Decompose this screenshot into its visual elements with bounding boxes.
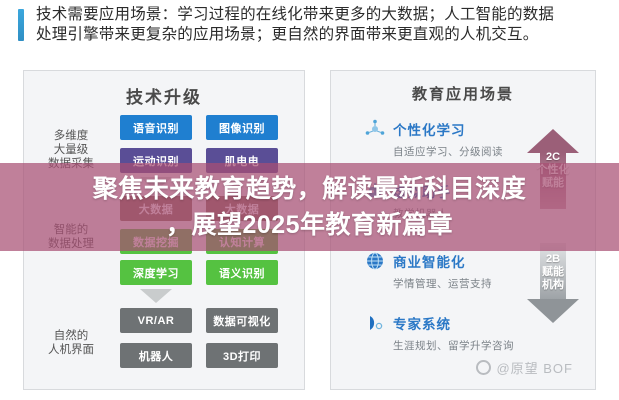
scenario-item-personalized: 个性化学习 自适应学习、分级阅读	[365, 119, 503, 159]
scenario-label-personalized: 个性化学习	[393, 123, 466, 138]
scenario-label-expert: 专家系统	[393, 317, 451, 332]
network-node-icon	[365, 119, 385, 139]
watermark: @原望 BOF	[476, 358, 573, 377]
box-dataviz: 数据可视化	[206, 308, 278, 333]
scenario-title-expert: 专家系统	[365, 313, 514, 333]
scenario-sub-personalized: 自适应学习、分级阅读	[393, 144, 503, 159]
box-image-recognition: 图像识别	[206, 115, 278, 140]
scenario-title-bi: 商业智能化	[365, 251, 492, 271]
scenario-sub-expert: 生涯规划、留学升学咨询	[393, 338, 514, 353]
header-quote-bar: 技术需要应用场景：学习过程的在线化带来更多的大数据；人工智能的数据 处理引擎带来…	[0, 0, 619, 62]
box-vr-ar: VR/AR	[120, 308, 192, 333]
box-robot: 机器人	[120, 343, 192, 368]
overlay-title-line-1: 聚焦未来教育趋势，解读最新科目深度	[93, 171, 527, 207]
left-panel-title: 技术升级	[24, 83, 304, 108]
scenario-title-personalized: 个性化学习	[365, 119, 503, 139]
row-label-interface: 自然的 人机界面	[32, 329, 110, 357]
weibo-icon	[476, 360, 491, 375]
accent-bar-icon	[18, 9, 24, 41]
scenario-label-bi: 商业智能化	[393, 255, 466, 270]
slide-image: 技术需要应用场景：学习过程的在线化带来更多的大数据；人工智能的数据 处理引擎带来…	[0, 0, 619, 400]
box-3d-print: 3D打印	[206, 343, 278, 368]
overlay-title-line-2: ，展望2025年教育新篇章	[166, 207, 453, 243]
box-speech-recognition: 语音识别	[120, 115, 192, 140]
scenario-item-expert: 专家系统 生涯规划、留学升学咨询	[365, 313, 514, 353]
right-panel-title: 教育应用场景	[331, 83, 595, 104]
box-deep-learning: 深度学习	[120, 260, 192, 285]
expert-icon	[365, 313, 385, 333]
watermark-text: @原望 BOF	[496, 358, 573, 377]
arrow-2b-label: 2B 赋能 机构	[527, 253, 579, 292]
header-quote-text: 技术需要应用场景：学习过程的在线化带来更多的大数据；人工智能的数据 处理引擎带来…	[36, 5, 594, 45]
scenario-item-bi: 商业智能化 学情管理、运营支持	[365, 251, 492, 291]
box-semantic: 语义识别	[206, 260, 278, 285]
overlay-title: 聚焦未来教育趋势，解读最新科目深度 ，展望2025年教育新篇章	[0, 163, 619, 251]
scenario-sub-bi: 学情管理、运营支持	[393, 276, 492, 291]
globe-icon	[365, 251, 385, 271]
arrow-down-icon-2	[140, 289, 172, 303]
